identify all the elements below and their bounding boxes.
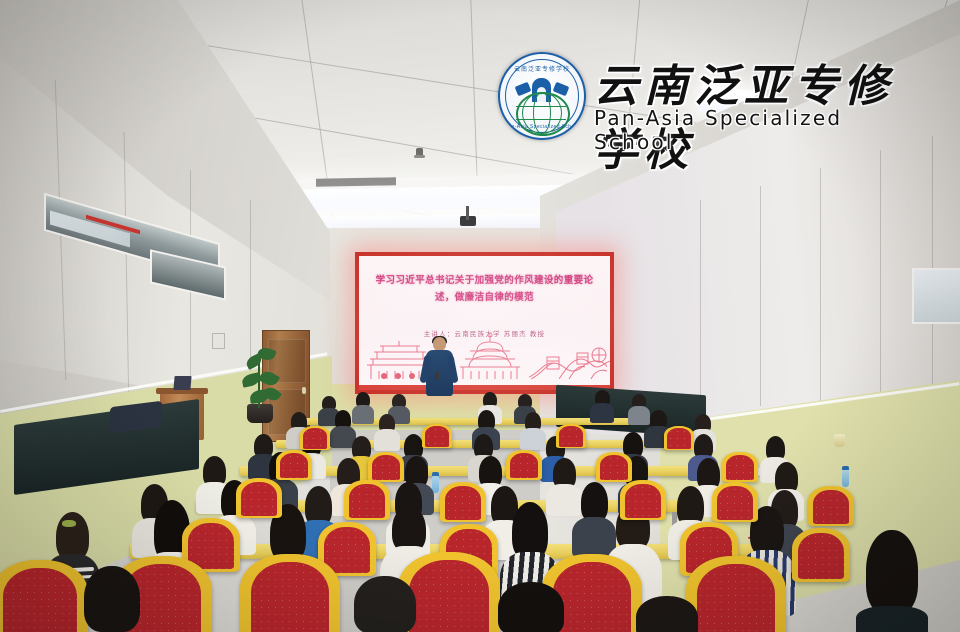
audience-person <box>498 582 568 632</box>
laptop-on-lectern[interactable] <box>173 376 191 390</box>
chair[interactable] <box>236 478 282 518</box>
chair-seat <box>600 455 628 481</box>
presenter-person <box>425 337 453 399</box>
water-bottle <box>842 470 849 487</box>
chair-seat <box>3 568 78 632</box>
chair[interactable] <box>722 452 758 482</box>
chair[interactable] <box>368 452 404 482</box>
hair <box>56 512 89 560</box>
chair-seat <box>667 428 690 448</box>
mountains-illustration <box>559 345 610 379</box>
chair-seat <box>510 453 538 479</box>
chair[interactable] <box>300 426 330 450</box>
audience-person <box>856 530 928 632</box>
chair-seat <box>425 426 448 446</box>
plant-pot <box>247 404 273 423</box>
hair-clip <box>62 520 76 527</box>
torso <box>856 606 928 632</box>
chair[interactable] <box>792 528 850 582</box>
chair-seat <box>372 455 400 481</box>
chair[interactable] <box>506 450 542 480</box>
chair-seat <box>303 428 326 448</box>
audience-person <box>354 576 420 632</box>
partition-seam <box>760 186 761 406</box>
chair[interactable] <box>712 482 758 522</box>
torso <box>590 403 614 423</box>
chair-seat <box>241 482 277 516</box>
hair <box>636 596 698 632</box>
chair-seat <box>813 490 849 524</box>
chair[interactable] <box>422 424 452 448</box>
wall-control-box[interactable] <box>212 333 225 349</box>
chair[interactable] <box>0 560 88 632</box>
photo-scene: 学习习近平总书记关于加强党的作风建设的重要论述，做廉洁自律的模范 主讲人：云南民… <box>0 0 960 632</box>
chair[interactable] <box>620 480 666 520</box>
chair[interactable] <box>440 482 486 522</box>
handheld-microphone <box>435 371 439 380</box>
chair[interactable] <box>276 450 312 480</box>
chair-seat <box>251 562 329 632</box>
audience-person <box>636 596 702 632</box>
chair[interactable] <box>664 426 694 450</box>
chair[interactable] <box>556 424 586 448</box>
hair <box>354 576 416 632</box>
sprinkler-head <box>416 148 423 158</box>
hair <box>84 566 140 632</box>
chair-seat <box>445 486 481 520</box>
hair <box>866 530 918 614</box>
chair-seat <box>409 560 489 632</box>
chair-seat <box>798 533 843 579</box>
chair-seat <box>559 426 582 446</box>
slide-title: 学习习近平总书记关于加强党的作风建设的重要论述，做廉洁自律的模范 <box>368 272 601 306</box>
audience-person <box>590 390 614 422</box>
hair <box>498 582 564 632</box>
right-high-window <box>912 268 960 324</box>
partition-seam <box>700 200 701 400</box>
chair[interactable] <box>596 452 632 482</box>
partition-seam <box>880 150 881 412</box>
chair-seat <box>280 453 308 479</box>
audience-person <box>374 414 400 448</box>
torso <box>374 429 400 451</box>
chair-seat <box>625 484 661 518</box>
projector-mount <box>466 206 469 220</box>
led-display-screen: 学习习近平总书记关于加强党的作风建设的重要论述，做廉洁自律的模范 主讲人：云南民… <box>355 252 614 394</box>
chair-seat <box>697 564 775 632</box>
partition-seam <box>820 168 821 408</box>
chair-seat <box>726 455 754 481</box>
chair[interactable] <box>808 486 854 526</box>
audience-person <box>84 566 144 632</box>
chair[interactable] <box>344 480 390 520</box>
soffit-recess <box>316 177 396 186</box>
presenter-head <box>433 337 446 351</box>
slide-artwork <box>359 334 610 384</box>
temple-of-heaven-illustration <box>459 333 521 379</box>
slide-surface: 学习习近平总书记关于加强党的作风建设的重要论述，做廉洁自律的模范 主讲人：云南民… <box>359 256 610 390</box>
bottle-cap <box>842 466 849 470</box>
chair-seat <box>717 486 753 520</box>
chair[interactable] <box>240 554 340 632</box>
paper-cup <box>834 434 845 447</box>
chair-seat <box>349 484 385 518</box>
door-knob[interactable] <box>302 387 306 394</box>
